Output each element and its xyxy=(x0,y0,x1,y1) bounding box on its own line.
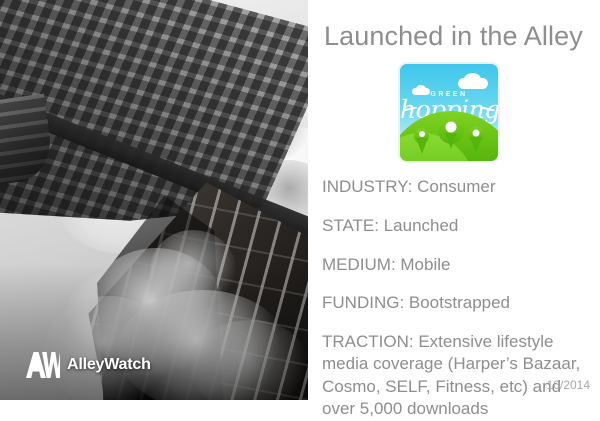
logo-cloud-icon xyxy=(464,73,481,86)
fact-funding: FUNDING: Bootstrapped xyxy=(322,292,598,314)
startup-profile-card: AlleyWatch Launched in the Alley GREEN h… xyxy=(0,0,600,400)
alleywatch-aw-monogram-icon xyxy=(26,352,60,378)
fact-medium: MEDIUM: Mobile xyxy=(322,254,598,276)
hero-photo: AlleyWatch xyxy=(0,0,308,400)
map-pin-icon xyxy=(468,126,484,143)
map-pin-icon-large xyxy=(438,116,464,144)
fact-state: STATE: Launched xyxy=(322,215,598,237)
page-title: Launched in the Alley xyxy=(324,21,583,52)
photo-vignette xyxy=(0,0,308,400)
details-panel: Launched in the Alley GREEN hopping I xyxy=(308,0,600,400)
date-stamp: 10/2014 xyxy=(547,378,590,392)
fact-traction: TRACTION: Extensive lifestyle media cove… xyxy=(322,331,598,421)
alleywatch-wordmark: AlleyWatch xyxy=(67,357,151,373)
map-pin-icon xyxy=(414,128,429,144)
alleywatch-watermark: AlleyWatch xyxy=(26,352,151,378)
company-logo: GREEN hopping xyxy=(398,62,500,163)
fact-industry: INDUSTRY: Consumer xyxy=(322,176,598,198)
